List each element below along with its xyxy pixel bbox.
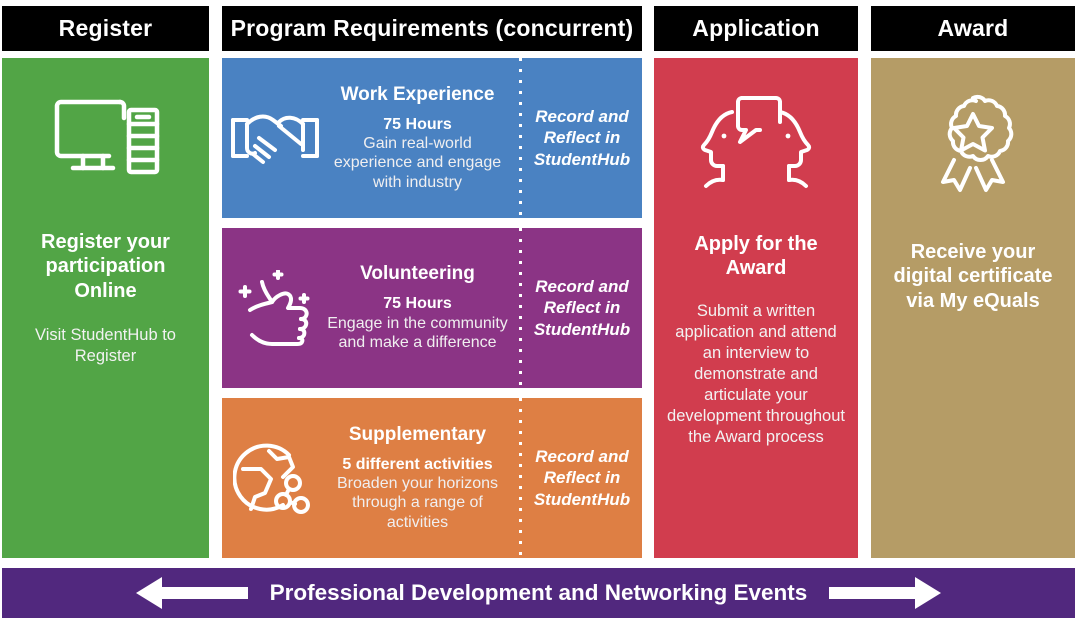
- footer-banner: Professional Development and Networking …: [2, 568, 1075, 618]
- application-title: Apply for the Award: [664, 232, 848, 281]
- supplementary-hours: 5 different activities: [324, 455, 511, 474]
- supplementary-title: Supplementary: [324, 424, 511, 446]
- header-register: Register: [2, 6, 209, 51]
- handshake-icon: [226, 102, 324, 174]
- requirement-volunteering: Volunteering 75 Hours Engage in the comm…: [222, 228, 642, 388]
- column-register: Register your participation Online Visit…: [2, 58, 209, 558]
- desktop-computer-icon: [47, 94, 165, 186]
- volunteering-description: Engage in the community and make a diffe…: [324, 314, 511, 353]
- supplementary-record-note: Record and Reflect in StudentHub: [530, 446, 634, 510]
- process-infographic: Register Program Requirements (concurren…: [0, 0, 1080, 623]
- header-register-label: Register: [59, 15, 153, 42]
- requirement-work-experience: Work Experience 75 Hours Gain real-world…: [222, 58, 642, 218]
- volunteering-hours: 75 Hours: [324, 294, 511, 313]
- header-application-label: Application: [692, 15, 819, 42]
- column-application: Apply for the Award Submit a written app…: [654, 58, 858, 558]
- header-award: Award: [871, 6, 1075, 51]
- volunteering-record-note: Record and Reflect in StudentHub: [530, 276, 634, 340]
- header-program-requirements-label: Program Requirements (concurrent): [231, 15, 634, 42]
- volunteering-title: Volunteering: [324, 263, 511, 285]
- work-experience-description: Gain real-world experience and engage wi…: [324, 134, 511, 193]
- header-award-label: Award: [938, 15, 1009, 42]
- work-experience-hours: 75 Hours: [324, 115, 511, 134]
- arrow-left-icon: [136, 576, 248, 610]
- arrow-right-icon: [829, 576, 941, 610]
- work-experience-title: Work Experience: [324, 84, 511, 106]
- globe-network-icon: [226, 439, 324, 517]
- work-experience-record-note: Record and Reflect in StudentHub: [530, 106, 634, 170]
- footer-label: Professional Development and Networking …: [270, 580, 808, 606]
- requirement-supplementary: Supplementary 5 different activities Bro…: [222, 398, 642, 558]
- application-subtitle: Submit a written application and attend …: [664, 301, 848, 449]
- column-award: Receive your digital certificate via My …: [871, 58, 1075, 558]
- header-application: Application: [654, 6, 858, 51]
- award-title: Receive your digital certificate via My …: [881, 240, 1065, 313]
- register-title: Register your participation Online: [12, 230, 199, 303]
- header-program-requirements: Program Requirements (concurrent): [222, 6, 642, 51]
- two-faces-speech-bubble-icon: [698, 90, 814, 194]
- supplementary-description: Broaden your horizons through a range of…: [324, 474, 511, 533]
- register-subtitle: Visit StudentHub to Register: [12, 325, 199, 367]
- award-rosette-icon: [921, 94, 1025, 194]
- thumbs-up-sparkle-icon: [226, 270, 324, 346]
